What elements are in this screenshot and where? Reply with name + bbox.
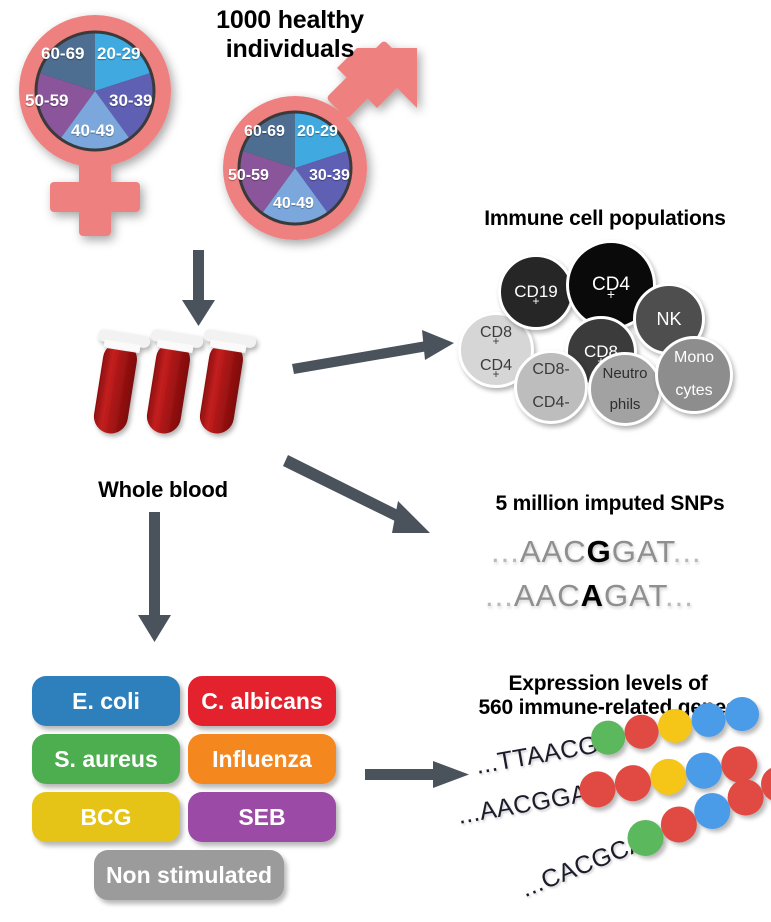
snps-heading: 5 million imputed SNPs — [460, 492, 760, 516]
expression-bead-2-2 — [612, 762, 654, 804]
arrow-blood-to-stimuli — [130, 512, 190, 657]
snp1-left: AAC — [520, 534, 587, 569]
snp1-right: GAT — [612, 534, 673, 569]
bubble-monocytes[interactable]: Mono cytes — [655, 336, 733, 414]
stimulus-seb[interactable]: SEB — [188, 792, 336, 842]
immune-heading: Immune cell populations — [455, 207, 755, 231]
stimulus-s-aureus[interactable]: S. aureus — [32, 734, 180, 784]
cohort-heading: 1000 healthy individuals — [185, 6, 395, 64]
whole-blood-label: Whole blood — [58, 477, 268, 503]
snp1-variant: G — [587, 534, 612, 569]
snp2-right: GAT — [604, 578, 665, 613]
expression-bead-2-3 — [648, 756, 690, 798]
snp2-suffix-dots: ... — [665, 578, 694, 613]
cohort-heading-line2: individuals — [185, 35, 395, 64]
bubble-cd19pos[interactable]: CD19+ — [498, 254, 574, 330]
stimulus-influenza[interactable]: Influenza — [188, 734, 336, 784]
snp2-variant: A — [581, 578, 604, 613]
bubble-neutrophils[interactable]: Neutro phils — [588, 352, 662, 426]
expression-bead-2-5 — [718, 744, 760, 786]
gene-expression-strands: ...TTAACGG ...AACGGAT ...CACGCAA — [460, 730, 771, 910]
bubble-monocytes-line1: Mono — [674, 350, 714, 367]
bubble-monocytes-line2: cytes — [674, 383, 714, 400]
blood-tubes-illustration — [98, 330, 278, 450]
stimulus-e-coli[interactable]: E. coli — [32, 676, 180, 726]
female-gender-symbol: 60-69 20-29 30-39 40-49 50-59 — [0, 4, 200, 244]
snp-allele-row-1: ...AACGGAT... — [491, 534, 702, 570]
male-gender-symbol: 60-69 20-29 30-39 40-49 50-59 — [205, 38, 435, 258]
cohort-heading-line1: 1000 healthy — [185, 6, 395, 35]
stimuli-panel: E. coli C. albicans S. aureus Influenza … — [32, 676, 352, 896]
snp1-prefix-dots: ... — [491, 534, 520, 569]
bubble-neutrophils-line2: phils — [602, 397, 647, 413]
immune-cell-bubbles: CD8+ CD4+ CD19+ CD4+ CD8+ NK — [440, 238, 771, 418]
snp-sequences: ...AACGGAT... ...AACAGAT... — [485, 530, 755, 630]
snp-allele-row-2: ...AACAGAT... — [485, 578, 694, 614]
snp1-suffix-dots: ... — [673, 534, 702, 569]
stimulus-bcg[interactable]: BCG — [32, 792, 180, 842]
bubble-cd8neg-cd4neg-line1: CD8- — [532, 362, 569, 379]
expression-bead-2-4 — [683, 750, 725, 792]
expression-heading-line1: Expression levels of — [452, 672, 764, 696]
stimulus-non-stimulated[interactable]: Non stimulated — [94, 850, 284, 900]
snp2-left: AAC — [514, 578, 581, 613]
bubble-cd8neg-cd4neg-line2: CD4- — [532, 395, 569, 412]
bubble-cd8neg-cd4neg[interactable]: CD8- CD4- — [514, 350, 588, 424]
figure-canvas: 60-69 20-29 30-39 40-49 50-59 — [0, 0, 771, 922]
snp2-prefix-dots: ... — [485, 578, 514, 613]
arrow-blood-to-immune — [292, 330, 462, 375]
arrow-blood-to-snps — [288, 455, 448, 545]
arrow-stimuli-to-expression — [365, 758, 475, 794]
bubble-nk-label: NK — [656, 310, 681, 329]
stimulus-c-albicans[interactable]: C. albicans — [188, 676, 336, 726]
bubble-neutrophils-line1: Neutro — [602, 366, 647, 382]
